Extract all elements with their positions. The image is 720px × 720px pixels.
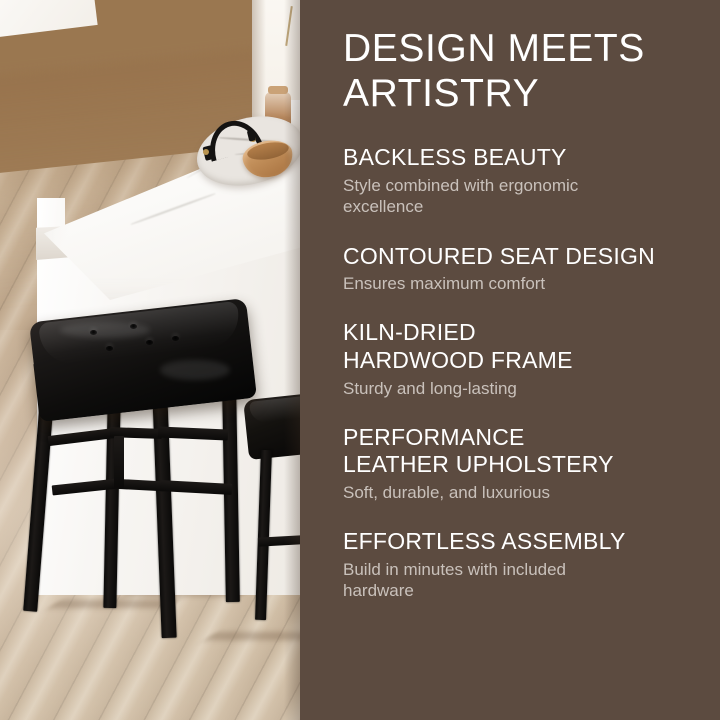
- feature-heading: KILN-DRIED HARDWOOD FRAME: [343, 319, 698, 374]
- seat-tuft: [90, 330, 97, 335]
- feature-subtext: Sturdy and long-lasting: [343, 378, 698, 399]
- seat-tuft: [106, 346, 113, 351]
- feature-heading: BACKLESS BEAUTY: [343, 144, 698, 172]
- panel-title: DESIGN MEETS ARTISTRY: [343, 26, 698, 116]
- feature-subtext: Build in minutes with included hardware: [343, 559, 698, 602]
- feature-list: BACKLESS BEAUTY Style combined with ergo…: [343, 144, 698, 601]
- feature-item-backless-beauty: BACKLESS BEAUTY Style combined with ergo…: [343, 144, 698, 217]
- product-lifestyle-photo: [0, 0, 300, 720]
- seat-tuft: [172, 336, 179, 341]
- feature-heading: EFFORTLESS ASSEMBLY: [343, 528, 698, 556]
- feature-text-panel: DESIGN MEETS ARTISTRY BACKLESS BEAUTY St…: [300, 0, 720, 720]
- feature-heading: PERFORMANCE LEATHER UPHOLSTERY: [343, 424, 698, 479]
- barstool-stretcher-vertical: [114, 436, 124, 488]
- feature-subtext: Ensures maximum comfort: [343, 273, 698, 294]
- feature-item-performance-leather-upholstery: PERFORMANCE LEATHER UPHOLSTERY Soft, dur…: [343, 424, 698, 503]
- seat-tuft: [146, 340, 153, 345]
- seat-tuft: [130, 324, 137, 329]
- feature-item-kiln-dried-hardwood-frame: KILN-DRIED HARDWOOD FRAME Sturdy and lon…: [343, 319, 698, 398]
- feature-subtext: Style combined with ergonomic excellence: [343, 175, 698, 218]
- feature-item-contoured-seat-design: CONTOURED SEAT DESIGN Ensures maximum co…: [343, 243, 698, 295]
- leather-sheen: [160, 360, 230, 380]
- promo-image: DESIGN MEETS ARTISTRY BACKLESS BEAUTY St…: [0, 0, 720, 720]
- faucet-brass-accent: [203, 149, 209, 155]
- feature-item-effortless-assembly: EFFORTLESS ASSEMBLY Build in minutes wit…: [343, 528, 698, 601]
- marble-vein: [130, 193, 215, 225]
- feature-heading: CONTOURED SEAT DESIGN: [343, 243, 698, 271]
- feature-subtext: Soft, durable, and luxurious: [343, 482, 698, 503]
- photo-edge-shadow: [284, 0, 300, 720]
